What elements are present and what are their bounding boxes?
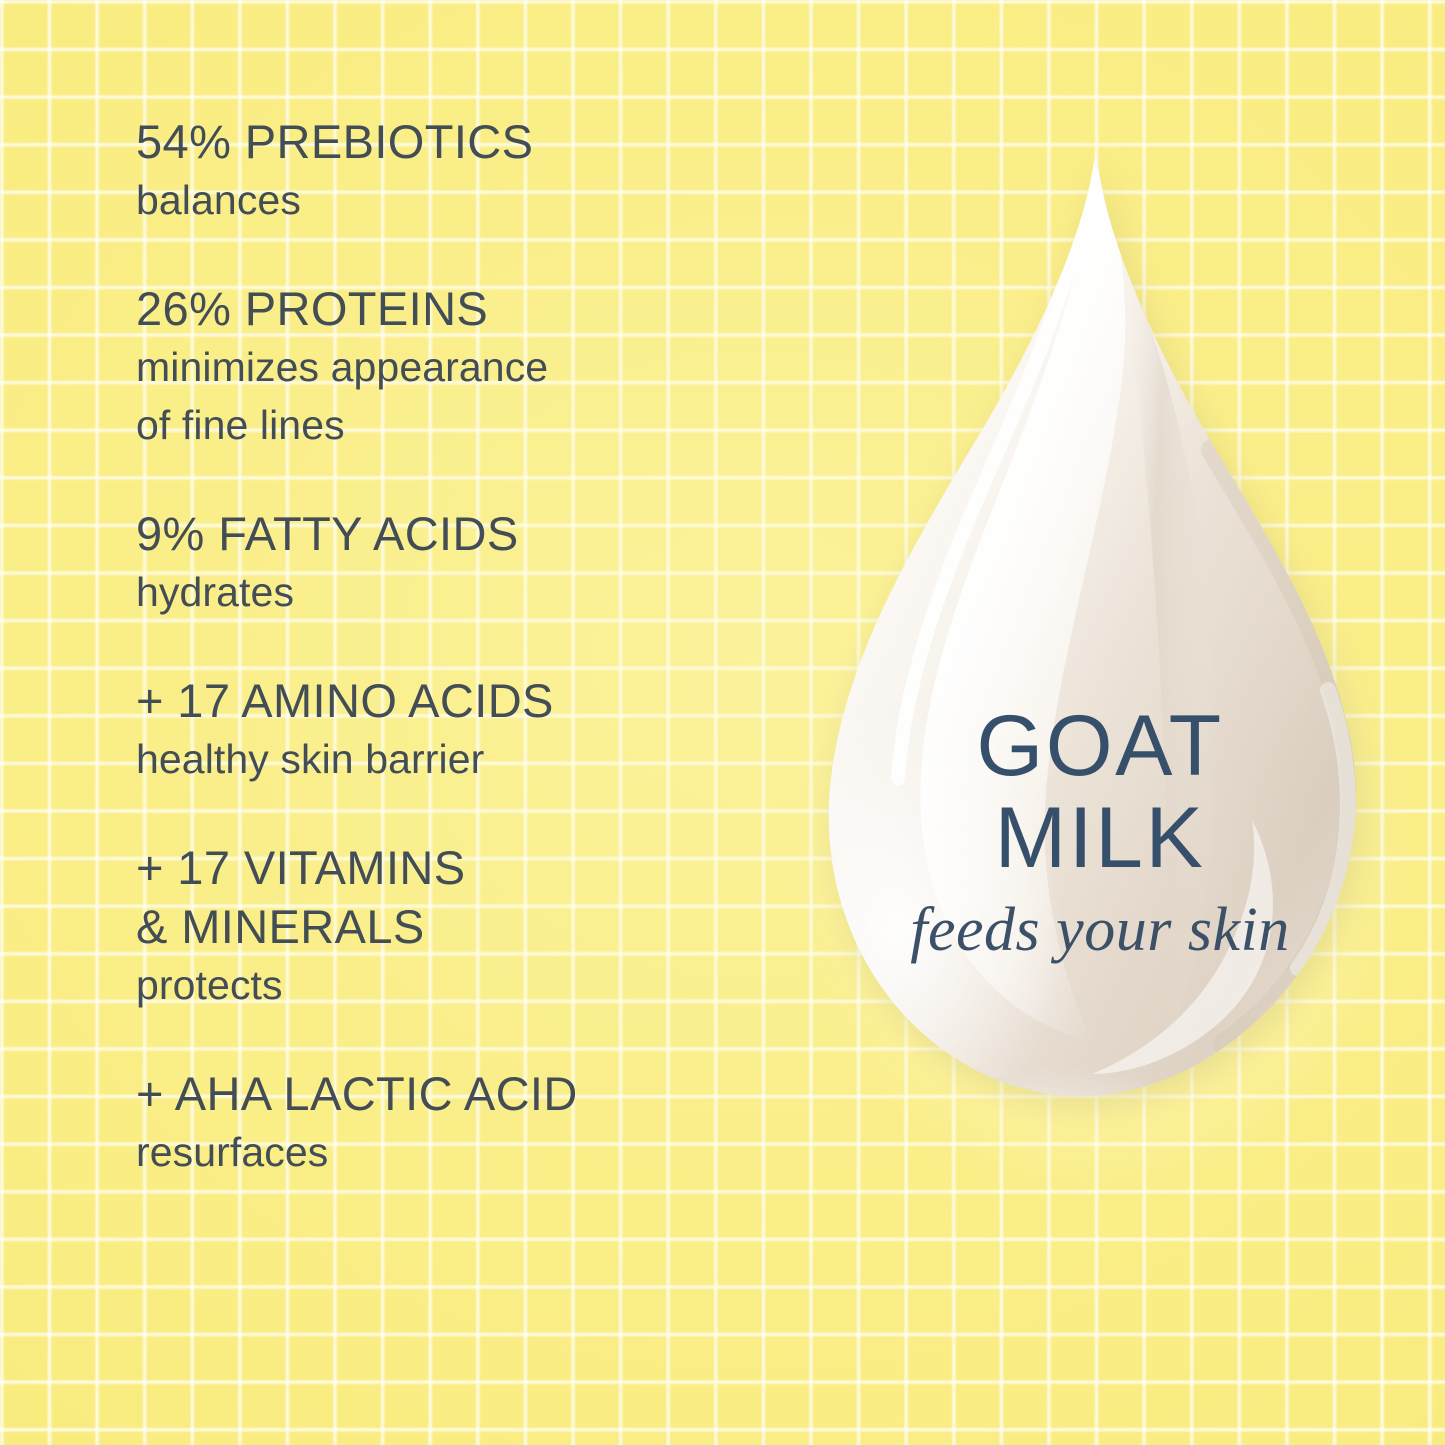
milk-droplet-graphic [800,130,1400,1190]
ingredient-benefit: healthy skin barrier [136,730,836,788]
ingredient-item-vitamins-minerals: + 17 VITAMINS & MINERALS protects [136,838,836,1014]
ingredient-headline: + 17 VITAMINS & MINERALS [136,838,836,956]
ingredient-benefit: balances [136,171,836,229]
ingredient-list: 54% PREBIOTICS balances 26% PROTEINS min… [136,112,836,1181]
ingredient-item-aha-lactic-acid: + AHA LACTIC ACID resurfaces [136,1064,836,1181]
ingredient-item-amino-acids: + 17 AMINO ACIDS healthy skin barrier [136,671,836,788]
ingredient-benefit: hydrates [136,563,836,621]
ingredient-benefit: minimizes appearance of fine lines [136,338,836,454]
goat-milk-ingredient-infographic: 54% PREBIOTICS balances 26% PROTEINS min… [0,0,1445,1445]
milk-droplet-icon [800,130,1400,1190]
ingredient-benefit: protects [136,956,836,1014]
ingredient-headline: + 17 AMINO ACIDS [136,671,836,730]
ingredient-item-proteins: 26% PROTEINS minimizes appearance of fin… [136,279,836,454]
ingredient-item-fatty-acids: 9% FATTY ACIDS hydrates [136,504,836,621]
ingredient-headline: 9% FATTY ACIDS [136,504,836,563]
ingredient-benefit: resurfaces [136,1123,836,1181]
ingredient-headline: + AHA LACTIC ACID [136,1064,836,1123]
ingredient-item-prebiotics: 54% PREBIOTICS balances [136,112,836,229]
ingredient-headline: 54% PREBIOTICS [136,112,836,171]
ingredient-headline: 26% PROTEINS [136,279,836,338]
